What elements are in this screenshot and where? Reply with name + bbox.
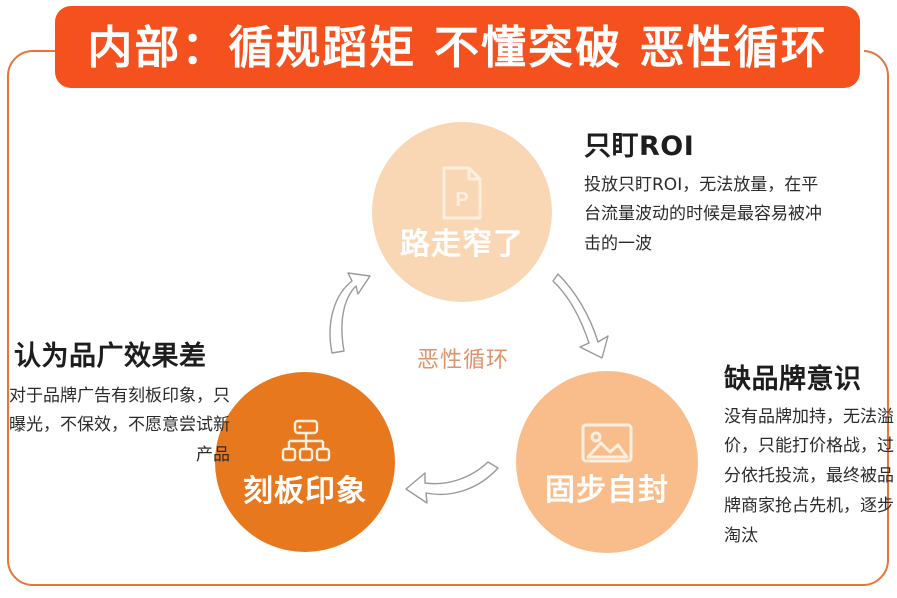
title-banner: 内部：循规蹈矩 不懂突破 恶性循环 <box>55 6 860 88</box>
note-brand-body: 没有品牌加持，无法溢价，只能打价格战，过分依托投流，最终被品牌商家抢占先机，逐步… <box>724 403 896 552</box>
svg-text:P: P <box>455 189 468 211</box>
cycle-node-top[interactable]: P 路走窄了 <box>372 122 552 302</box>
cycle-node-left[interactable]: 刻板印象 <box>215 372 395 552</box>
document-p-icon: P <box>438 165 486 226</box>
cycle-node-right[interactable]: 固步自封 <box>516 371 698 553</box>
curved-arrow-down-icon <box>548 268 628 363</box>
cycle-node-left-label: 刻板印象 <box>243 477 367 507</box>
sitemap-hierarchy-icon <box>277 418 333 473</box>
curved-arrow-up-icon <box>318 265 398 360</box>
slide-canvas: 内部：循规蹈矩 不懂突破 恶性循环 P 路走窄了 固步自封 <box>0 0 897 598</box>
note-roi-body: 投放只盯ROI，无法放量，在平台流量波动的时候是最容易被冲击的一波 <box>584 171 834 260</box>
note-ad: 认为品广效果差 对于品牌广告有刻板印象，只曝光，不保效，不愿意尝试新产品 <box>8 342 230 471</box>
curved-arrow-left-icon <box>400 460 510 512</box>
cycle-node-top-label: 路走窄了 <box>400 230 524 260</box>
note-brand: 缺品牌意识 没有品牌加持，无法溢价，只能打价格战，过分依托投流，最终被品牌商家抢… <box>724 365 896 551</box>
note-brand-title: 缺品牌意识 <box>724 365 896 395</box>
page-title: 内部：循规蹈矩 不懂突破 恶性循环 <box>87 25 827 70</box>
image-photo-icon <box>579 419 635 472</box>
note-ad-body: 对于品牌广告有刻板印象，只曝光，不保效，不愿意尝试新产品 <box>8 382 230 471</box>
cycle-node-right-label: 固步自封 <box>545 476 669 506</box>
note-roi: 只盯ROI 投放只盯ROI，无法放量，在平台流量波动的时候是最容易被冲击的一波 <box>584 132 834 260</box>
note-ad-title: 认为品广效果差 <box>8 342 230 372</box>
cycle-center-label: 恶性循环 <box>398 342 528 374</box>
note-roi-title: 只盯ROI <box>584 132 834 162</box>
